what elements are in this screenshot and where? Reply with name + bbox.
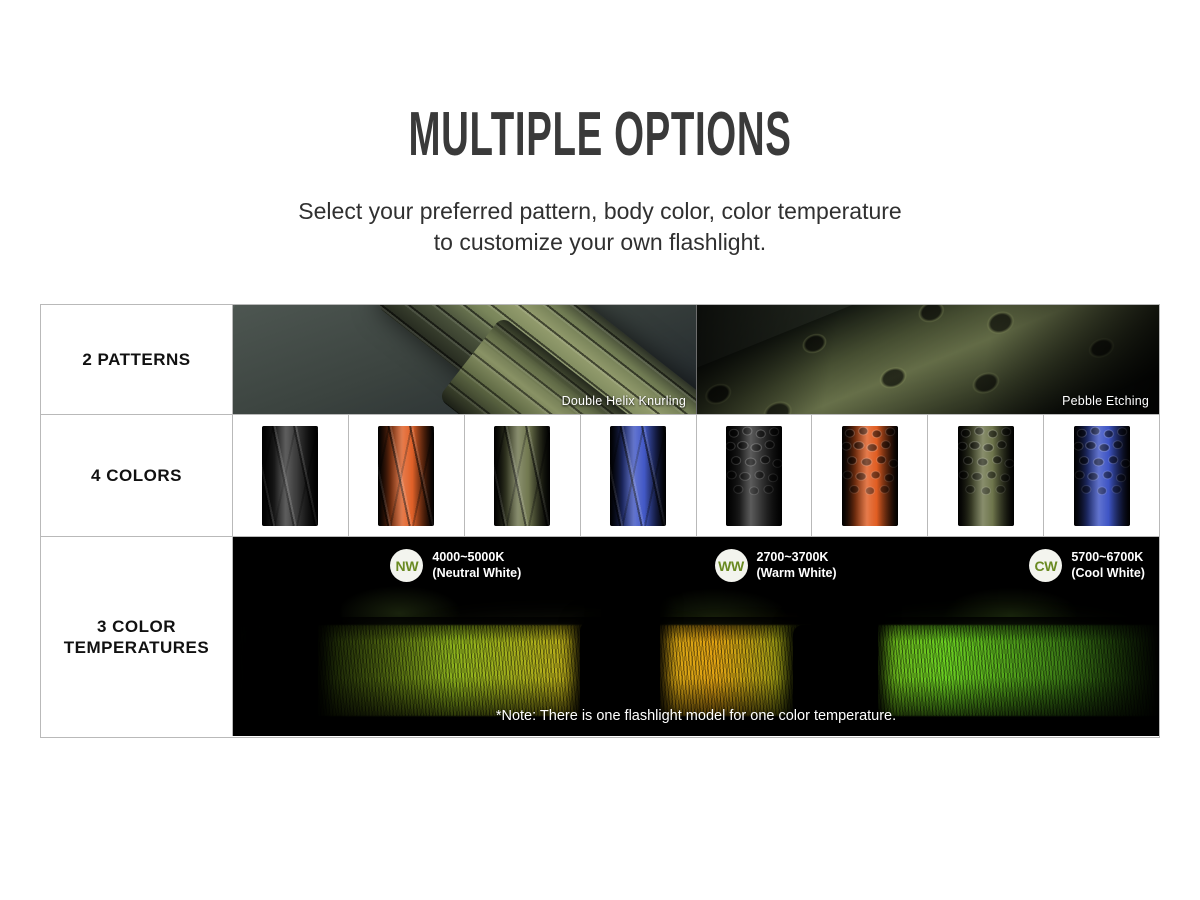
flashlight-body-pebble-blue xyxy=(1074,426,1130,526)
silhouette-figure-2 xyxy=(608,589,660,720)
badge-kelvin-range: 2700~3700K xyxy=(757,550,837,566)
flashlight-body-helix-black xyxy=(262,426,318,526)
color-temperature-badge-nw: NW4000~5000K(Neutral White) xyxy=(390,549,521,582)
table-row-colors: 4 COLORS xyxy=(41,415,1159,537)
flashlight-body-helix-orange xyxy=(378,426,434,526)
row-label-line-1: 3 COLOR xyxy=(64,616,209,637)
silhouette-figure-1 xyxy=(270,597,318,720)
color-swatch-cell-pebble-blue[interactable] xyxy=(1044,415,1159,536)
color-swatch-cell-pebble-green[interactable] xyxy=(928,415,1044,536)
badge-temperature-name: (Cool White) xyxy=(1071,566,1145,582)
color-swatch-cell-pebble-orange[interactable] xyxy=(812,415,928,536)
badge-abbr-ww: WW xyxy=(715,549,748,582)
options-table: 2 PATTERNS Double Helix Knurling Pebble … xyxy=(40,304,1160,738)
table-row-color-temperatures: 3 COLOR TEMPERATURES xyxy=(41,537,1159,736)
row-label-line-2: TEMPERATURES xyxy=(64,637,209,658)
page-title: MULTIPLE OPTIONS xyxy=(228,104,972,166)
footnote-text: *Note: There is one flashlight model for… xyxy=(233,708,1159,724)
table-row-patterns: 2 PATTERNS Double Helix Knurling Pebble … xyxy=(41,305,1159,415)
pattern-caption-pebble: Pebble Etching xyxy=(1062,394,1149,408)
flashlight-body-pebble-orange xyxy=(842,426,898,526)
infographic-page: MULTIPLE OPTIONS Select your preferred p… xyxy=(0,0,1200,900)
colors-content xyxy=(233,415,1159,536)
color-swatch-cell-helix-orange[interactable] xyxy=(349,415,465,536)
pattern-cell-double-helix-knurling[interactable]: Double Helix Knurling xyxy=(233,305,696,414)
pattern-cell-pebble-etching[interactable]: Pebble Etching xyxy=(696,305,1159,414)
patterns-content: Double Helix Knurling Pebble Etching xyxy=(233,305,1159,414)
color-temperature-content: NW4000~5000K(Neutral White)WW2700~3700K(… xyxy=(233,537,1159,736)
color-temperature-badge-cw: CW5700~6700K(Cool White) xyxy=(1029,549,1145,582)
flashlight-body-helix-green xyxy=(494,426,550,526)
badge-label-nw: 4000~5000K(Neutral White) xyxy=(432,550,521,581)
badge-kelvin-range: 5700~6700K xyxy=(1071,550,1145,566)
row-label-color-temperatures: 3 COLOR TEMPERATURES xyxy=(41,537,233,736)
color-temperature-badge-ww: WW2700~3700K(Warm White) xyxy=(715,549,837,582)
color-swatch-cell-helix-black[interactable] xyxy=(233,415,349,536)
subtitle-line-2: to customize your own flashlight. xyxy=(0,227,1200,258)
color-swatch-cell-pebble-black[interactable] xyxy=(697,415,813,536)
pattern-caption-knurling: Double Helix Knurling xyxy=(562,394,686,408)
flashlight-body-pebble-black xyxy=(726,426,782,526)
color-swatch-cell-helix-blue[interactable] xyxy=(581,415,697,536)
silhouette-figure-3 xyxy=(821,585,878,720)
badge-temperature-name: (Warm White) xyxy=(757,566,837,582)
night-beam-photo: NW4000~5000K(Neutral White)WW2700~3700K(… xyxy=(233,537,1159,736)
color-swatch-strip xyxy=(233,415,1159,536)
badge-temperature-name: (Neutral White) xyxy=(432,566,521,582)
page-subtitle: Select your preferred pattern, body colo… xyxy=(0,196,1200,258)
color-swatch-cell-helix-green[interactable] xyxy=(465,415,581,536)
flashlight-body-helix-blue xyxy=(610,426,666,526)
badge-label-ww: 2700~3700K(Warm White) xyxy=(757,550,837,581)
badge-abbr-nw: NW xyxy=(390,549,423,582)
flashlight-body-pebble-green xyxy=(958,426,1014,526)
subtitle-line-1: Select your preferred pattern, body colo… xyxy=(0,196,1200,227)
row-label-patterns: 2 PATTERNS xyxy=(41,305,233,414)
badge-kelvin-range: 4000~5000K xyxy=(432,550,521,566)
row-label-colors: 4 COLORS xyxy=(41,415,233,536)
badge-label-cw: 5700~6700K(Cool White) xyxy=(1071,550,1145,581)
badge-abbr-cw: CW xyxy=(1029,549,1062,582)
